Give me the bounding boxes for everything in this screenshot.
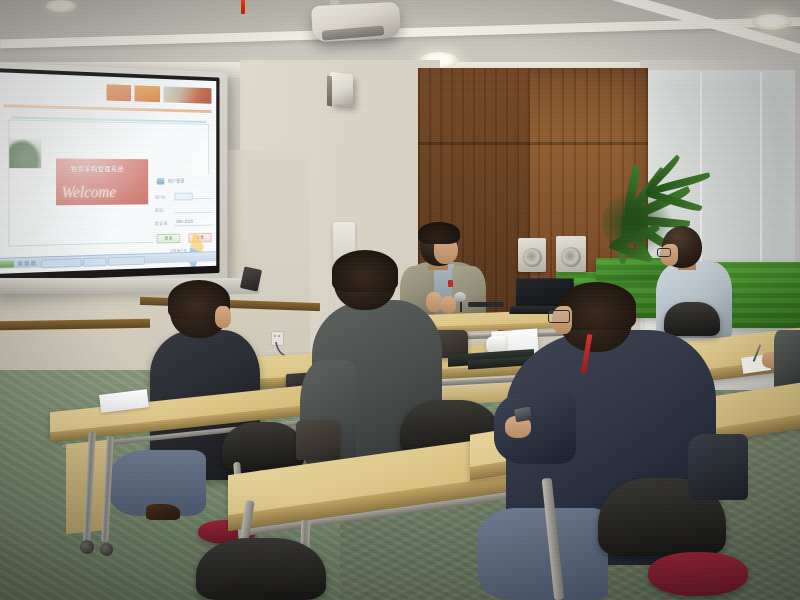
login-button[interactable]: 登 录 — [157, 234, 181, 244]
ie-icon[interactable] — [18, 261, 23, 266]
potted-palm-plant — [590, 150, 720, 280]
left-table-caster-1 — [80, 540, 94, 554]
taskbar-item-2[interactable] — [83, 257, 106, 266]
presenter-hand-left — [426, 292, 442, 312]
taskbar-item-3[interactable] — [108, 256, 144, 266]
media-icon[interactable] — [31, 261, 36, 266]
captcha-input[interactable] — [174, 225, 213, 227]
captcha-placeholder: 请输入验证码 — [176, 220, 193, 225]
username-label: 用户名： — [155, 195, 169, 201]
app-title: 物资采购管理系统 — [71, 164, 124, 174]
username-field-rule — [192, 198, 213, 199]
meeting-room-photo: 物资采购管理系统 Welcome 用户登录 用户名： 密 码： 验 证 码： 请… — [0, 0, 800, 600]
left-table-caster-2 — [100, 543, 113, 556]
presenter-hair — [418, 222, 460, 244]
app-banner: 物资采购管理系统 Welcome — [56, 158, 148, 205]
password-label: 密 码： — [155, 208, 166, 214]
attendee-mid-bag — [296, 420, 340, 460]
wall-outlet-hole-2 — [278, 335, 280, 337]
captcha-label: 验 证 码： — [155, 221, 170, 227]
header-thumb-2 — [134, 85, 160, 102]
presenter-lapel-badge — [448, 280, 453, 287]
attendee-blue-shirt-glasses — [657, 248, 671, 257]
downlight-2 — [752, 14, 792, 30]
projection-screen[interactable]: 物资采购管理系统 Welcome 用户登录 用户名： 密 码： 验 证 码： 请… — [0, 62, 228, 294]
login-heading: 用户登录 — [168, 178, 185, 185]
start-button[interactable] — [0, 260, 14, 267]
desk-speaker-right — [556, 236, 586, 272]
wall-speaker-left-side — [327, 76, 332, 107]
wall-speaker-left — [330, 72, 353, 107]
wood-panel-seam — [418, 142, 648, 145]
user-icon — [157, 178, 165, 185]
microphone[interactable] — [454, 292, 466, 302]
attendee-front-legs — [478, 508, 608, 600]
taskbar-item-1[interactable] — [41, 258, 81, 268]
fire-sensor-indicator-icon — [241, 0, 245, 14]
attendee-mid-hair — [332, 250, 398, 292]
attendee-front-glasses — [548, 310, 570, 323]
attendee-left-ear — [215, 306, 231, 328]
chair-seat-front[interactable] — [648, 552, 748, 596]
presenter-cable — [468, 302, 504, 307]
header-thumb-1 — [107, 84, 131, 101]
banner-scenery-image — [9, 138, 41, 168]
chair-back-foreground[interactable] — [196, 538, 326, 600]
mobile-phone[interactable] — [514, 407, 532, 423]
downlight-10 — [46, 0, 76, 12]
attendee-right-partial-body — [688, 434, 748, 500]
folder-icon[interactable] — [24, 261, 29, 266]
welcome-text: Welcome — [62, 183, 116, 203]
desk-speaker-left — [518, 238, 546, 272]
slide-content-area: 物资采购管理系统 Welcome 用户登录 用户名： 密 码： 验 证 码： 请… — [9, 120, 208, 245]
attendee-left-shoe — [146, 504, 180, 520]
attendee-notetaker-body — [774, 330, 800, 390]
chair-back-right-rear[interactable] — [664, 302, 720, 336]
wall-outlet-hole-1 — [274, 335, 276, 337]
username-input[interactable] — [174, 193, 192, 201]
password-input[interactable] — [174, 212, 213, 213]
header-thumb-3 — [163, 86, 211, 103]
screen-surface[interactable]: 物资采购管理系统 Welcome 用户登录 用户名： 密 码： 验 证 码： 请… — [0, 72, 216, 274]
